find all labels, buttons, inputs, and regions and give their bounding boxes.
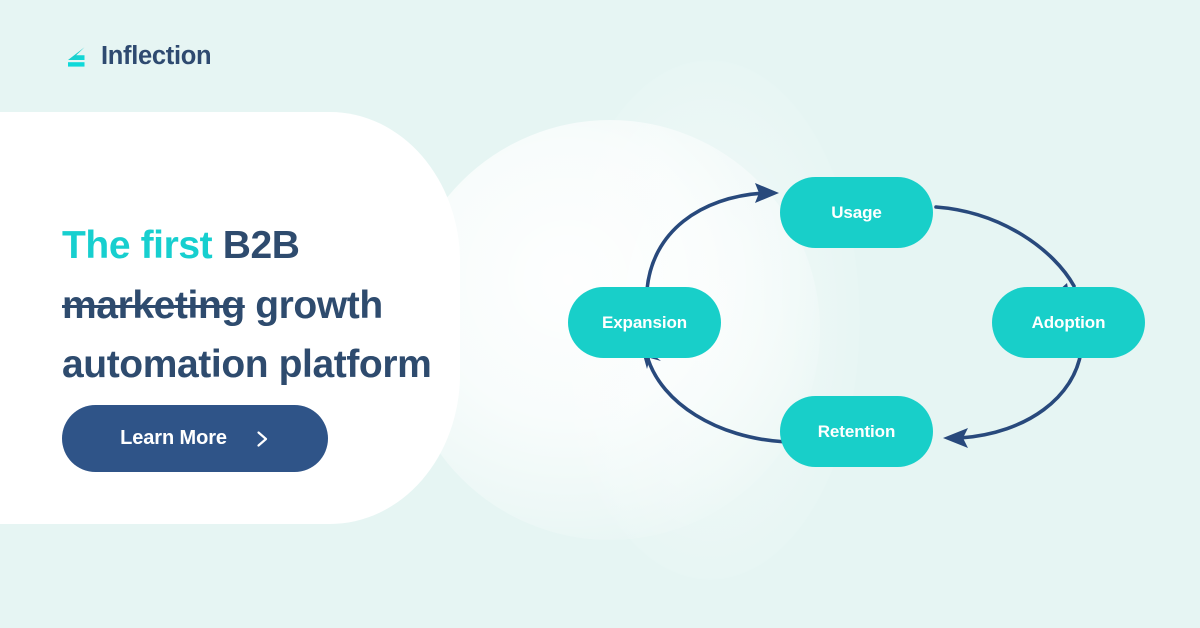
cycle-node-usage-label: Usage xyxy=(831,203,882,223)
learn-more-label: Learn More xyxy=(120,427,227,450)
arrow-path-adoption-to-retention xyxy=(960,352,1081,438)
learn-more-button[interactable]: Learn More xyxy=(62,405,328,472)
headline-space-1 xyxy=(212,224,222,267)
arrow-path-expansion-to-usage xyxy=(647,193,764,290)
arrow-path-usage-to-adoption xyxy=(936,207,1074,286)
hero-banner: Inflection The first B2B marketing growt… xyxy=(0,0,1200,628)
headline-strikethrough: marketing xyxy=(62,284,245,327)
arrow-path-retention-to-expansion xyxy=(648,359,786,442)
cycle-node-expansion[interactable]: Expansion xyxy=(568,287,721,358)
headline-b2b: B2B xyxy=(223,224,300,267)
cycle-node-usage[interactable]: Usage xyxy=(780,177,933,248)
page-title: The first B2B marketing growth automatio… xyxy=(62,216,532,395)
cycle-node-adoption[interactable]: Adoption xyxy=(992,287,1145,358)
cycle-node-adoption-label: Adoption xyxy=(1032,313,1106,333)
headline-growth: growth xyxy=(255,284,383,327)
chevron-right-icon xyxy=(255,430,270,448)
brand-logo[interactable]: Inflection xyxy=(62,42,211,72)
cycle-node-expansion-label: Expansion xyxy=(602,313,687,333)
headline-automation-platform: automation platform xyxy=(62,343,431,386)
cycle-node-retention[interactable]: Retention xyxy=(780,396,933,467)
cycle-node-retention-label: Retention xyxy=(818,422,895,442)
inflection-chevron-logo-icon xyxy=(62,42,92,72)
brand-name: Inflection xyxy=(101,44,211,70)
headline-accent: The first xyxy=(62,224,212,267)
headline-space-2 xyxy=(245,284,255,327)
